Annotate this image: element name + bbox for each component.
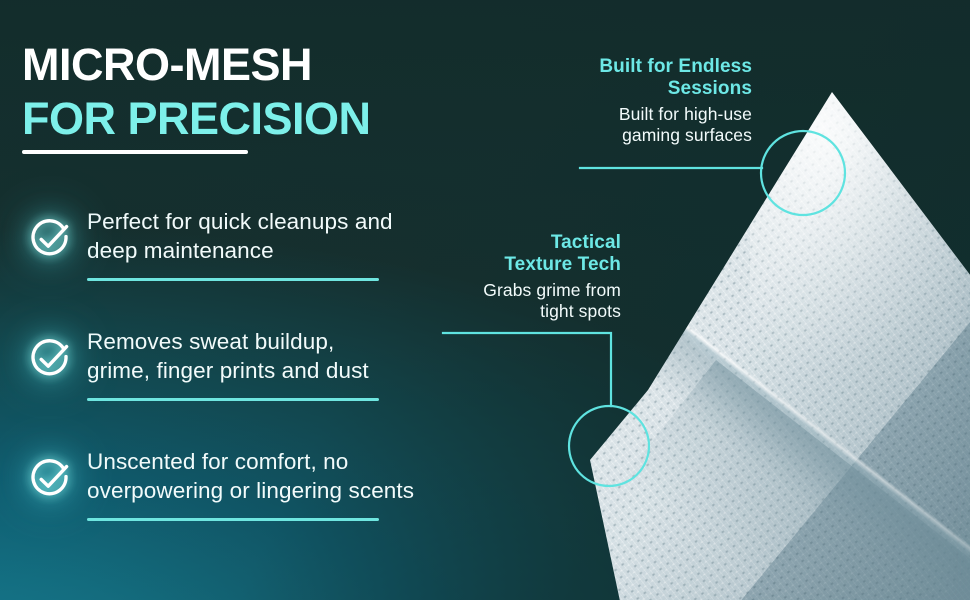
callout-desc-line-1: Grabs grime from [483,280,621,300]
callout-desc-line-2: tight spots [540,301,621,321]
benefit-underline [87,278,379,281]
callout-endless-sessions: Built for Endless Sessions Built for hig… [540,56,752,146]
callout-description: Grabs grime from tight spots [403,280,621,322]
callout-tactical-texture: Tactical Texture Tech Grabs grime from t… [403,232,621,322]
benefit-line-2: overpowering or lingering scents [87,476,490,505]
callout-desc-line-1: Built for high-use [619,104,752,124]
check-circle-icon [22,451,78,507]
callout-title-line-1: Built for Endless [599,56,752,77]
callout-title-line-1: Tactical [551,232,621,253]
callout-title-line-2: Sessions [668,78,752,99]
benefit-text: Unscented for comfort, no overpowering o… [87,445,490,521]
check-circle-icon [22,331,78,387]
benefit-text: Removes sweat buildup, grime, finger pri… [87,325,490,401]
benefit-line-1: Removes sweat buildup, [87,327,490,356]
benefit-item: Unscented for comfort, no overpowering o… [20,445,490,565]
benefit-underline [87,398,379,401]
benefit-underline [87,518,379,521]
headline-block: MICRO-MESH FOR PRECISION [22,42,492,154]
callout-title: Built for Endless Sessions [540,56,752,101]
callout-description: Built for high-use gaming surfaces [540,104,752,146]
benefit-line-2: grime, finger prints and dust [87,356,490,385]
infographic-banner: MICRO-MESH FOR PRECISION Perfect for qui… [0,0,970,600]
callout-title: Tactical Texture Tech [403,232,621,277]
check-circle-icon [22,211,78,267]
callout-desc-line-2: gaming surfaces [622,125,752,145]
benefit-line-1: Unscented for comfort, no [87,447,490,476]
callout-title-line-2: Texture Tech [504,254,621,275]
benefit-item: Removes sweat buildup, grime, finger pri… [20,325,490,445]
headline-line-1: MICRO-MESH [22,42,492,87]
headline-underline [22,150,248,154]
headline-line-2: FOR PRECISION [22,96,492,141]
